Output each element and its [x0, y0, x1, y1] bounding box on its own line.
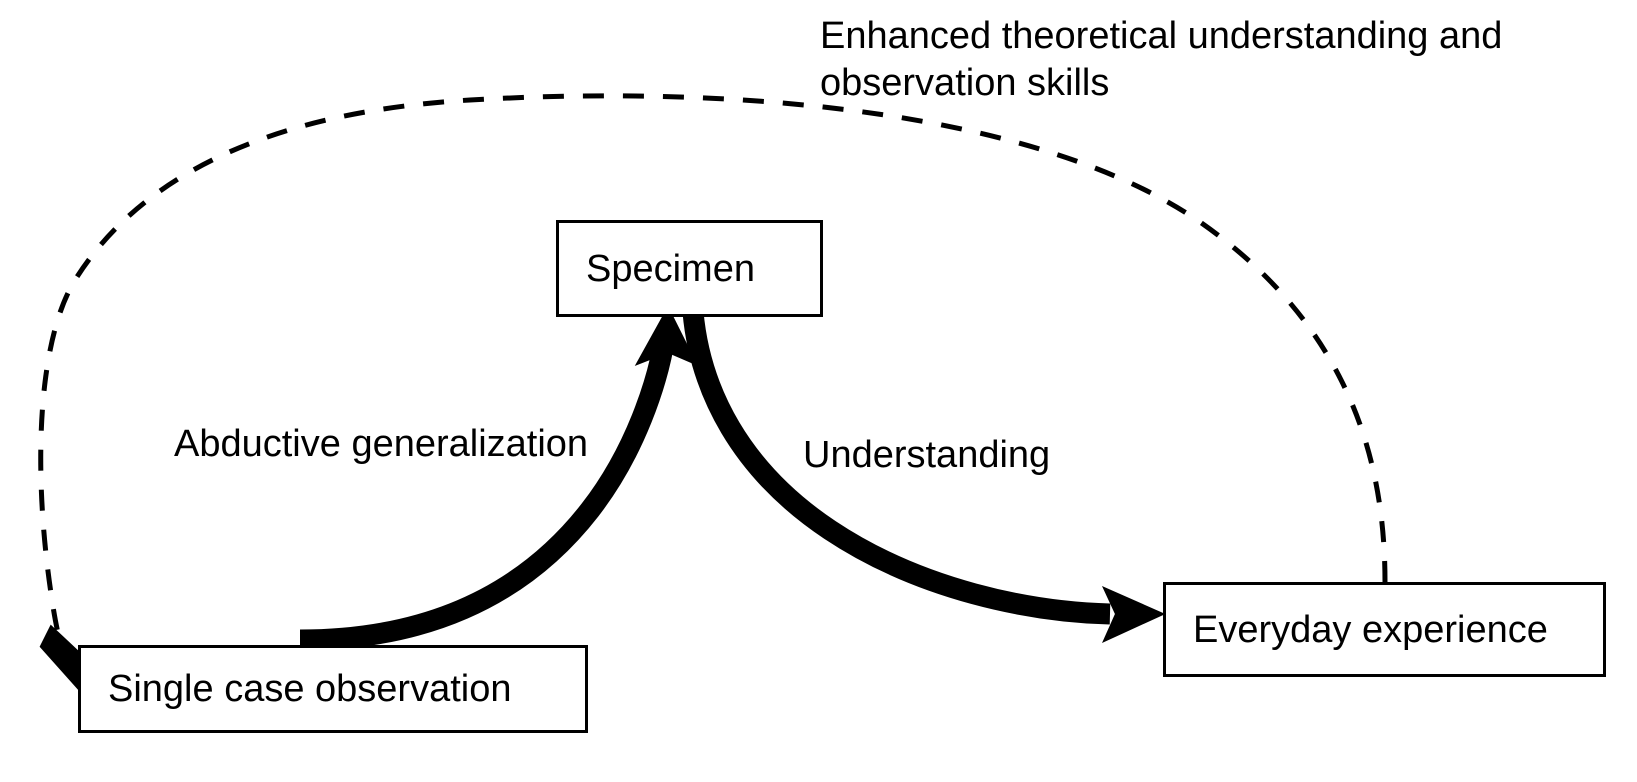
edge-abductive-generalization: [300, 308, 696, 640]
node-single-case-observation[interactable]: Single case observation: [78, 645, 588, 733]
node-everyday-experience[interactable]: Everyday experience: [1163, 582, 1606, 677]
node-single-case-observation-label: Single case observation: [108, 670, 511, 708]
edge-understanding-arrowhead: [1104, 588, 1163, 641]
edge-abductive-path: [300, 336, 665, 640]
node-specimen-label: Specimen: [586, 250, 755, 288]
node-specimen[interactable]: Specimen: [556, 220, 823, 317]
edge-label-enhanced-understanding: Enhanced theoretical understanding and o…: [820, 13, 1502, 107]
node-everyday-experience-label: Everyday experience: [1193, 611, 1548, 649]
edge-label-abductive-generalization: Abductive generalization: [174, 423, 588, 466]
diagram-canvas: Specimen Single case observation Everyda…: [0, 0, 1637, 782]
edge-label-understanding: Understanding: [803, 434, 1050, 477]
